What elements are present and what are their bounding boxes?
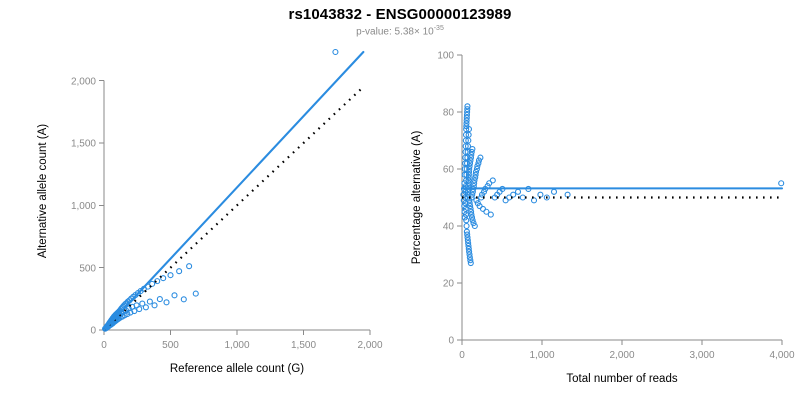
data-point xyxy=(172,293,177,298)
x-axis-title: Reference allele count (G) xyxy=(170,363,304,375)
data-point xyxy=(177,269,182,274)
x-tick-label: 2,000 xyxy=(609,350,634,361)
y-tick-label: 500 xyxy=(79,263,96,274)
data-point xyxy=(532,198,537,203)
plot-page: rs1043832 - ENSG00000123989 p-value: 5.3… xyxy=(0,0,800,400)
data-point xyxy=(152,303,157,308)
x-tick-label: 500 xyxy=(162,340,179,351)
x-tick-label: 1,000 xyxy=(529,350,554,361)
data-point xyxy=(779,181,784,186)
x-tick-label: 1,500 xyxy=(291,340,316,351)
x-tick-label: 2,000 xyxy=(357,340,382,351)
y-tick-label: 0 xyxy=(90,326,96,337)
fit-line xyxy=(104,52,363,330)
panel-percentage-vs-reads: 02040608010001,0002,0003,0004,000Total n… xyxy=(400,0,800,400)
data-point xyxy=(157,297,162,302)
data-point xyxy=(137,307,142,312)
x-axis-title: Total number of reads xyxy=(566,373,677,385)
data-point xyxy=(552,189,557,194)
data-point xyxy=(488,212,493,217)
y-tick-label: 1,000 xyxy=(71,201,96,212)
scatter-plot-right: 02040608010001,0002,0003,0004,000Total n… xyxy=(400,0,800,400)
y-tick-label: 80 xyxy=(443,108,455,119)
data-point xyxy=(516,189,521,194)
data-point xyxy=(168,273,173,278)
data-points xyxy=(103,50,338,332)
x-tick-label: 0 xyxy=(459,350,465,361)
x-tick-label: 4,000 xyxy=(769,350,794,361)
y-tick-label: 40 xyxy=(443,222,455,233)
y-tick-label: 2,000 xyxy=(71,76,96,87)
x-tick-label: 3,000 xyxy=(689,350,714,361)
data-point xyxy=(143,305,148,310)
data-point xyxy=(187,264,192,269)
reference-line xyxy=(104,87,363,330)
data-point xyxy=(193,291,198,296)
data-point xyxy=(333,50,338,55)
panel-reference-vs-alternative: 05001,0001,5002,00005001,0001,5002,000Re… xyxy=(0,0,400,400)
y-tick-label: 0 xyxy=(448,336,454,347)
y-tick-label: 100 xyxy=(437,51,454,62)
data-points xyxy=(461,104,784,266)
data-point xyxy=(147,299,152,304)
x-tick-label: 0 xyxy=(101,340,107,351)
data-point xyxy=(520,195,525,200)
data-point xyxy=(464,224,469,229)
data-point xyxy=(164,300,169,305)
y-tick-label: 60 xyxy=(443,165,455,176)
scatter-plot-left: 05001,0001,5002,00005001,0001,5002,000Re… xyxy=(0,0,400,400)
y-tick-label: 20 xyxy=(443,279,455,290)
y-axis-title: Alternative allele count (A) xyxy=(37,124,49,258)
y-tick-label: 1,500 xyxy=(71,139,96,150)
data-point xyxy=(490,178,495,183)
data-point xyxy=(181,297,186,302)
x-tick-label: 1,000 xyxy=(224,340,249,351)
y-axis-title: Percentage alternative (A) xyxy=(411,131,423,265)
